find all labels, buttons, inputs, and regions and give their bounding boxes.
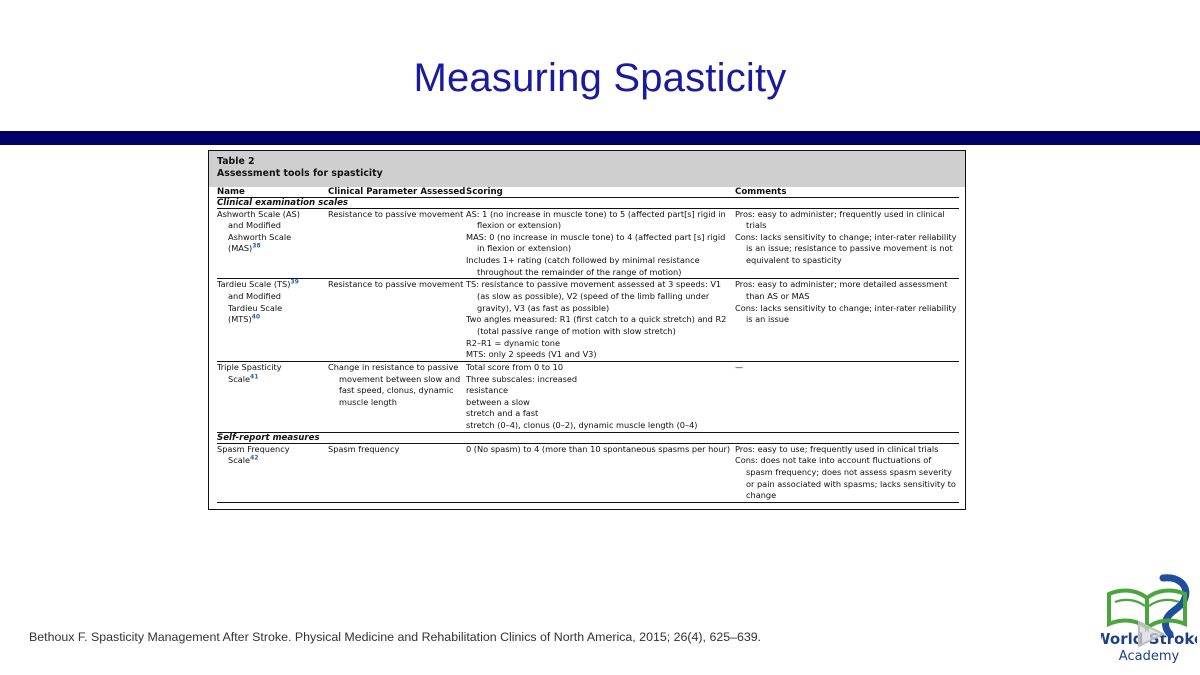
table-label: Table 2: [217, 156, 957, 168]
table-row: Spasm FrequencyScale42Spasm frequency0 (…: [217, 443, 959, 502]
slide-canvas: Measuring Spasticity Table 2 Assessment …: [0, 0, 1200, 675]
table-section-heading: Self-report measures: [217, 432, 959, 443]
cell-name: Ashworth Scale (AS)and ModifiedAshworth …: [217, 208, 328, 279]
table-caption-block: Table 2 Assessment tools for spasticity: [209, 151, 965, 187]
logo-brand-line2: Academy: [1119, 649, 1180, 664]
cell-scoring: 0 (No spasm) to 4 (more than 10 spontane…: [466, 443, 731, 502]
page-title: Measuring Spasticity: [0, 56, 1200, 101]
table-section-heading: Clinical examination scales: [217, 197, 959, 208]
source-citation: Bethoux F. Spasticity Management After S…: [29, 630, 761, 644]
cell-parameter: Spasm frequency: [328, 443, 466, 502]
column-header-scoring: Scoring: [466, 187, 731, 198]
cell-comments: Pros: easy to administer; more detailed …: [731, 279, 959, 361]
cell-comments: Pros: easy to use; frequently used in cl…: [731, 443, 959, 502]
book-line-right-icon: [1149, 600, 1179, 606]
table-caption: Assessment tools for spasticity: [217, 168, 957, 180]
table-header-row: Name Clinical Parameter Assessed Scoring…: [217, 187, 959, 198]
column-header-parameter: Clinical Parameter Assessed: [328, 187, 466, 198]
cell-name: Triple SpasticityScale41: [217, 361, 328, 432]
swoosh-icon: [1163, 578, 1186, 634]
cell-parameter: Change in resistance to passive movement…: [328, 361, 466, 432]
cell-comments: Pros: easy to administer; frequently use…: [731, 208, 959, 279]
table-row: Ashworth Scale (AS)and ModifiedAshworth …: [217, 208, 959, 279]
column-header-comments: Comments: [731, 187, 959, 198]
cell-name: Spasm FrequencyScale42: [217, 443, 328, 502]
table-row: Triple SpasticityScale41Change in resist…: [217, 361, 959, 432]
cell-comments: —: [731, 361, 959, 432]
table-figure: Table 2 Assessment tools for spasticity …: [208, 150, 966, 510]
cell-name: Tardieu Scale (TS)39and ModifiedTardieu …: [217, 279, 328, 361]
book-line-left-icon: [1115, 600, 1145, 606]
navy-divider-bar: [0, 131, 1200, 145]
table-section-heading-row: Self-report measures: [217, 432, 959, 443]
assessment-tools-table: Name Clinical Parameter Assessed Scoring…: [217, 187, 959, 503]
cell-scoring: AS: 1 (no increase in muscle tone) to 5 …: [466, 208, 731, 279]
table-body: Clinical examination scalesAshworth Scal…: [217, 197, 959, 502]
world-stroke-academy-logo: World Stroke Academy: [1101, 572, 1197, 668]
table-row: Tardieu Scale (TS)39and ModifiedTardieu …: [217, 279, 959, 361]
table-section-heading-row: Clinical examination scales: [217, 197, 959, 208]
cell-parameter: Resistance to passive movement: [328, 279, 466, 361]
logo-artwork: World Stroke Academy: [1101, 572, 1197, 668]
cell-scoring: TS: resistance to passive movement asses…: [466, 279, 731, 361]
cell-parameter: Resistance to passive movement: [328, 208, 466, 279]
cell-scoring: Total score from 0 to 10Three subscales:…: [466, 361, 731, 432]
column-header-name: Name: [217, 187, 328, 198]
